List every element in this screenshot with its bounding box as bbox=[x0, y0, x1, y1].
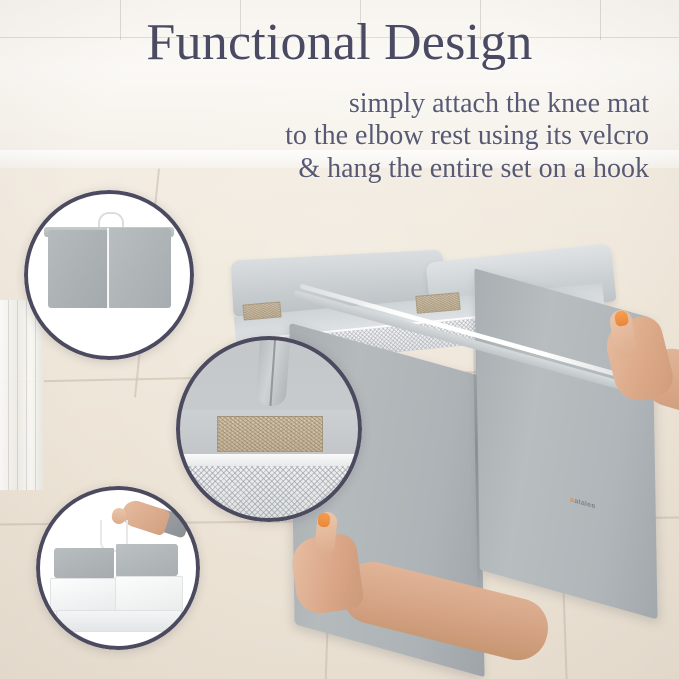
hand-lower-left bbox=[288, 536, 518, 679]
mat-fold-seam bbox=[107, 228, 109, 308]
mat-left-panel bbox=[48, 230, 108, 308]
mesh-panel bbox=[176, 466, 362, 522]
subtitle-line-1: simply attach the knee mat bbox=[0, 88, 649, 120]
subtitle-line-2: to the elbow rest using its velcro bbox=[0, 120, 649, 152]
fold-seam bbox=[269, 336, 276, 406]
product-marketing-image: aatalee atalee bbox=[0, 0, 679, 679]
folded-mat-hanging-inset: atalee bbox=[24, 190, 194, 360]
velcro-patch bbox=[217, 416, 323, 452]
mat-right-panel bbox=[109, 228, 171, 308]
page-title: Functional Design bbox=[0, 16, 679, 69]
hand-upper-right bbox=[600, 300, 679, 500]
hanging-full-set-inset bbox=[36, 486, 200, 650]
knee-mat-right-panel bbox=[115, 576, 183, 612]
elbow-rest-left-bolster bbox=[54, 548, 114, 578]
knee-mat-left-panel bbox=[50, 578, 116, 612]
elbow-rest-right-bolster bbox=[116, 544, 178, 576]
subtitle-block: simply attach the knee mat to the elbow … bbox=[0, 88, 664, 185]
fingernail bbox=[614, 310, 629, 327]
white-trim bbox=[176, 454, 362, 466]
fabric-fold bbox=[255, 336, 290, 407]
subtitle-line-3: & hang the entire set on a hook bbox=[0, 153, 649, 185]
knee-mat-lower-panel bbox=[56, 610, 182, 632]
velcro-closeup-inset bbox=[176, 336, 362, 522]
